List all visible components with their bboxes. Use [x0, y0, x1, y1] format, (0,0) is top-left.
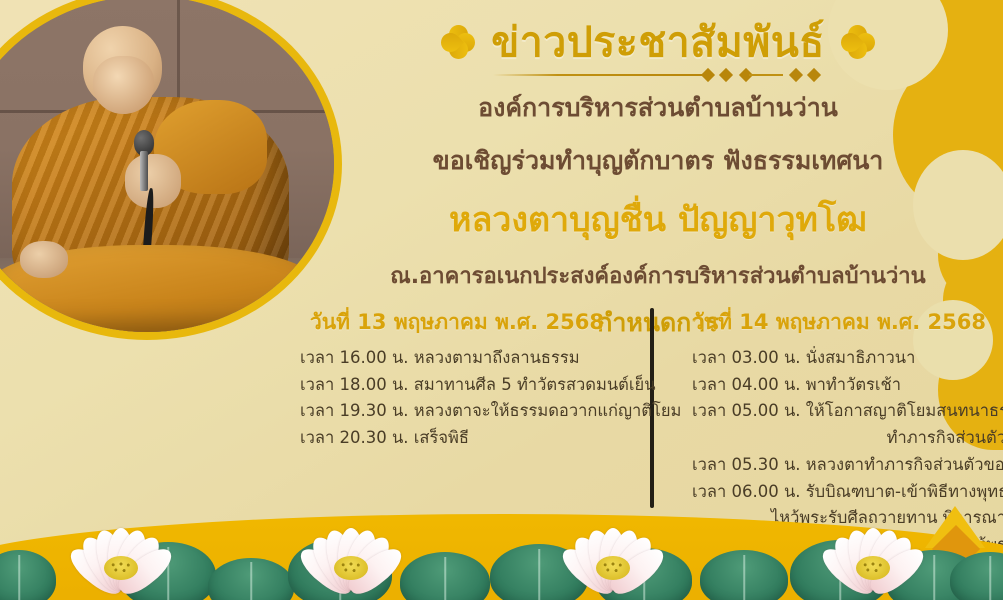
page-title: ข่าวประชาสัมพันธ์ — [491, 18, 825, 66]
microphone-body — [140, 151, 149, 191]
list-item-continuation: ทำภารกิจส่วนตัว — [692, 425, 1003, 452]
list-item: เวลา 19.30 น. หลวงตาจะให้ธรรมดอวากแก่ญาต… — [300, 398, 652, 425]
invitation-text: ขอเชิญร่วมทำบุญตักบาตร ฟังธรรมเทศนา — [348, 141, 968, 181]
organization-name: องค์การบริหารส่วนตำบลบ้านว่าน — [348, 88, 968, 128]
monk-name: หลวงตาบุญชื่น ปัญญาวุทโฒ — [348, 192, 968, 246]
day2-heading: วันที่ 14 พฤษภาคม พ.ศ. 2568 — [692, 306, 1003, 339]
diamond-divider-ornament — [493, 68, 823, 82]
list-item: เวลา 05.00 น. ให้โอกาสญาติโยมสนทนาธรรมแล… — [692, 398, 1003, 425]
quatrefoil-flower-icon-left — [441, 25, 475, 59]
list-item: เวลา 03.00 น. นั่งสมาธิภาวนา — [692, 345, 1003, 372]
lotus-flower-icon — [60, 506, 182, 598]
photo-monk-left-hand — [20, 241, 69, 278]
venue-text: ณ.อาคารอเนกประสงค์องค์การบริหารส่วนตำบลบ… — [348, 258, 968, 293]
poster-header: ข่าวประชาสัมพันธ์ องค์การบริหารส่วนตำบลบ… — [348, 18, 968, 343]
quatrefoil-flower-icon-right — [841, 25, 875, 59]
lotus-flower-icon — [552, 506, 674, 598]
monk-portrait — [0, 0, 342, 340]
poster-canvas: ข่าวประชาสัมพันธ์ องค์การบริหารส่วนตำบลบ… — [0, 0, 1003, 600]
list-item: เวลา 16.00 น. หลวงตามาถึงลานธรรม — [300, 345, 652, 372]
list-item: เวลา 05.30 น. หลวงตาทำภารกิจส่วนตัวของท่… — [692, 452, 1003, 479]
photo-monk-face — [93, 56, 155, 113]
lotus-flower-icon — [812, 506, 934, 598]
day1-heading: วันที่ 13 พฤษภาคม พ.ศ. 2568 — [310, 306, 652, 339]
lotus-leaf-icon — [700, 550, 788, 600]
bottom-lotus-decoration — [0, 480, 1003, 600]
list-item: เวลา 18.00 น. สมาทานศีล 5 ทำวัตรสวดมนต์เ… — [300, 372, 652, 399]
headline-row: ข่าวประชาสัมพันธ์ — [348, 18, 968, 66]
lotus-flower-icon — [290, 506, 412, 598]
portrait-photo — [0, 0, 334, 332]
list-item: เวลา 04.00 น. พาทำวัตรเช้า — [692, 372, 1003, 399]
list-item: เวลา 20.30 น. เสร็จพิธี — [300, 425, 652, 452]
